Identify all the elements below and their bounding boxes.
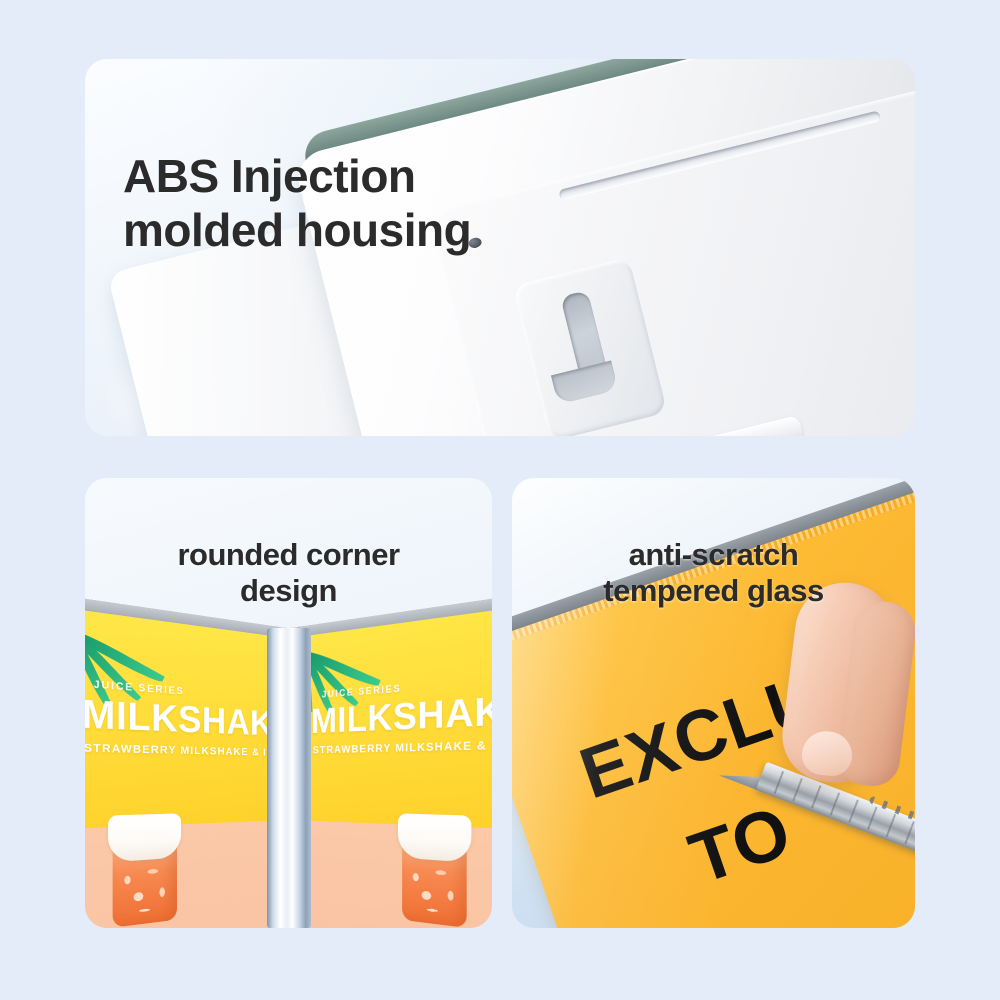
panel-heading-rounded-corner: rounded corner design: [85, 537, 492, 610]
product-feature-page: ABS Injection molded housing JUICE SERIE…: [0, 0, 1000, 1000]
rounded-corner-seam: [267, 628, 311, 928]
panel-anti-scratch-glass: EXCLU TO anti-scratch tempered glass: [512, 478, 915, 928]
milkshake-cup: [398, 813, 471, 928]
abs-inner-plate: [428, 87, 915, 436]
poster-face-left: JUICE SERIES MILKSHAKE STRAWBERRY MILKSH…: [85, 596, 287, 928]
panel-rounded-corner: JUICE SERIES MILKSHAKE STRAWBERRY MILKSH…: [85, 478, 492, 928]
rounded-corner-illustration: JUICE SERIES MILKSHAKE STRAWBERRY MILKSH…: [85, 656, 492, 928]
poster-subtitle: STRAWBERRY MILKSHAKE & ICE CREAM: [85, 742, 287, 760]
poster-face-right: JUICE SERIES MILKSHAKE STRAWBERRY MILKSH…: [290, 596, 492, 928]
cup-fruit-bits: [404, 860, 464, 920]
panel-heading-anti-scratch-glass: anti-scratch tempered glass: [512, 537, 915, 610]
cup-fruit-bits: [115, 860, 175, 920]
cup-foam-lid: [398, 813, 471, 862]
panel-abs-housing: ABS Injection molded housing: [85, 59, 915, 436]
panel-heading-abs-housing: ABS Injection molded housing: [123, 149, 471, 258]
milkshake-cup: [108, 813, 181, 928]
poster-title: MILKSHAKE: [85, 692, 287, 746]
keyhole-foot: [551, 360, 618, 404]
